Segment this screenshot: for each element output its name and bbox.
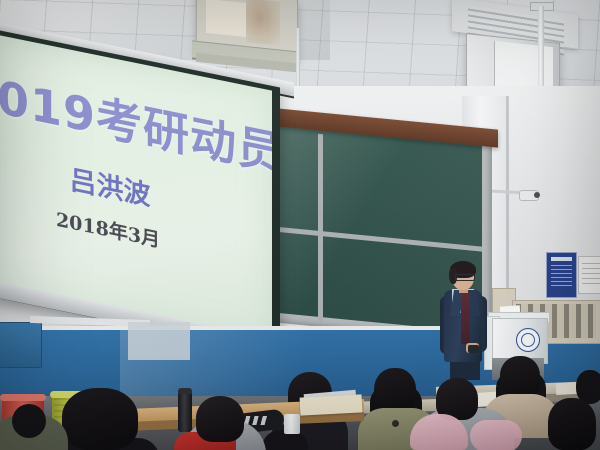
list-item xyxy=(12,404,46,438)
red-bucket-rim xyxy=(0,394,46,401)
speaker-scarf xyxy=(461,292,470,344)
white-cup xyxy=(284,414,300,434)
ceiling-water-stain xyxy=(246,0,280,46)
thermos-cap xyxy=(178,388,192,394)
projector-support-rod xyxy=(296,28,300,90)
student-center-left xyxy=(62,388,138,450)
camera-lens-icon xyxy=(534,192,540,198)
glasses-icon xyxy=(455,274,475,281)
university-emblem-inner-icon xyxy=(521,333,535,347)
jacket-button xyxy=(392,420,399,427)
wall-cabinet xyxy=(0,322,42,368)
list-item xyxy=(196,396,244,442)
presentation-clicker xyxy=(468,345,479,353)
open-notebook xyxy=(300,394,363,415)
fur-collar-right xyxy=(470,420,522,450)
classroom-photo: 2019考研动员 吕洪波 2018年3月 xyxy=(0,0,600,450)
student-far-right xyxy=(548,398,596,450)
notice-board xyxy=(546,252,577,298)
chalkboard-divider-vertical xyxy=(318,134,323,322)
list-item xyxy=(500,356,540,398)
cabinet-panel xyxy=(128,322,190,360)
schedule-sheet xyxy=(578,256,600,294)
black-thermos xyxy=(178,390,192,432)
